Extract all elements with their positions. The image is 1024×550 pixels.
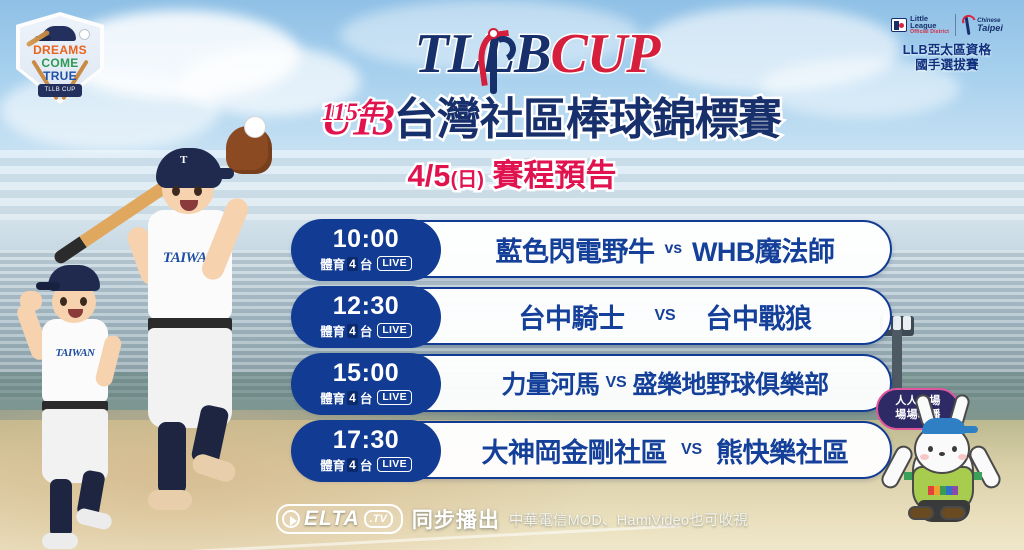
- mascot-eye: [952, 446, 957, 452]
- time-badge: 12:30 體育 4 台 LIVE: [291, 286, 441, 348]
- channel-suffix: 台: [360, 321, 373, 340]
- match-time: 15:00: [333, 361, 399, 386]
- channel-suffix: 台: [360, 254, 373, 273]
- poster-canvas: DREAMS COME TRUE TLLB CUP Little League …: [0, 0, 1024, 550]
- date-label: 4/5: [407, 158, 450, 193]
- live-badge: LIVE: [377, 256, 412, 271]
- channel-suffix: 台: [360, 455, 373, 474]
- simulcast-label: 同步播出: [412, 504, 500, 534]
- player-shoe: [42, 533, 78, 549]
- match-time: 12:30: [333, 294, 399, 319]
- home-team: 藍色閃電野牛: [496, 230, 655, 269]
- year-label: 115年: [322, 92, 383, 128]
- player-eye: [80, 297, 87, 306]
- mascot-eye: [928, 446, 933, 452]
- vs-label: VS: [681, 441, 702, 459]
- away-team: WHB魔法師: [692, 230, 834, 269]
- time-badge: 17:30 體育 4 台 LIVE: [291, 420, 441, 482]
- mascot-nose: [939, 452, 945, 456]
- channel-prefix: 體育: [320, 388, 345, 407]
- match-time: 17:30: [333, 428, 399, 453]
- match-teams: 力量河馬 VS 盛樂地野球俱樂部: [454, 365, 890, 401]
- away-team: 盛樂地野球俱樂部: [632, 365, 828, 401]
- channel-info: 體育 4 台 LIVE: [320, 254, 412, 273]
- jersey-text: TAIWAN: [46, 347, 104, 359]
- player-cap: [48, 265, 100, 291]
- cup-logo-row: TLLBCUP: [0, 26, 1024, 96]
- channel-number: 4: [347, 257, 358, 271]
- tllb-emblem-icon: [468, 30, 520, 94]
- player-shoe: [190, 452, 238, 485]
- day-of-week-label: (日): [451, 169, 484, 191]
- home-team: 力量河馬: [502, 365, 600, 401]
- player-jersey: [42, 319, 108, 403]
- mascot-cheek: [920, 454, 929, 460]
- channel-prefix: 體育: [320, 254, 345, 273]
- player-large: TAIWAN T: [118, 130, 278, 550]
- mascot-cap: [922, 418, 966, 434]
- vs-label: VS: [655, 307, 676, 325]
- broadcast-note: 中華電信MOD、HamiVideo也可收視: [509, 509, 748, 530]
- schedule-row[interactable]: 17:30 體育 4 台 LIVE 大神岡金剛社區 VS 熊快樂社區: [292, 421, 892, 479]
- live-badge: LIVE: [377, 390, 412, 405]
- channel-info: 體育 4 台 LIVE: [320, 321, 412, 340]
- elta-tv-suffix: .TV: [364, 510, 393, 528]
- live-badge: LIVE: [377, 457, 412, 472]
- cup-text: CUP: [550, 23, 659, 85]
- vs-label: vs: [665, 240, 682, 258]
- channel-prefix: 體育: [320, 455, 345, 474]
- channel-number: 4: [347, 391, 358, 405]
- schedule-row[interactable]: 10:00 體育 4 台 LIVE 藍色閃電野牛 vs WHB魔法師: [292, 220, 892, 278]
- title-row: 115年 U13台灣社區棒球錦標賽: [0, 98, 1024, 154]
- schedule-row[interactable]: 12:30 體育 4 台 LIVE 台中騎士 VS 台中戰狼: [292, 287, 892, 345]
- time-badge: 15:00 體育 4 台 LIVE: [291, 353, 441, 415]
- headline-block: TLLBCUP 115年 U13台灣社區棒球錦標賽 4/5(日) 賽程預告: [0, 26, 1024, 191]
- schedule-preview-label: 賽程預告: [493, 158, 617, 193]
- vs-label: VS: [606, 374, 627, 392]
- player-leg: [158, 422, 186, 494]
- channel-suffix: 台: [360, 388, 373, 407]
- live-badge: LIVE: [377, 323, 412, 338]
- match-teams: 大神岡金剛社區 VS 熊快樂社區: [454, 431, 890, 470]
- match-teams: 藍色閃電野牛 vs WHB魔法師: [454, 230, 890, 269]
- mascot-cheek: [958, 454, 967, 460]
- match-teams: 台中騎士 VS 台中戰狼: [454, 297, 890, 336]
- channel-number: 4: [347, 324, 358, 338]
- channel-info: 體育 4 台 LIVE: [320, 388, 412, 407]
- main-title: U13台灣社區棒球錦標賽: [0, 98, 1024, 142]
- channel-info: 體育 4 台 LIVE: [320, 455, 412, 474]
- elta-tv-logo: ELTA .TV: [276, 504, 403, 534]
- mascot-shirt-logo: [928, 486, 958, 495]
- schedule-list: 10:00 體育 4 台 LIVE 藍色閃電野牛 vs WHB魔法師 12:30…: [292, 220, 892, 488]
- player-eye: [60, 297, 67, 306]
- date-row: 4/5(日) 賽程預告: [0, 160, 1024, 191]
- home-team: 台中騎士: [519, 297, 625, 336]
- player-fist: [20, 291, 42, 311]
- mascot-figure: 人人上場 場場轉播: [868, 388, 1018, 548]
- mascot-arm: [878, 442, 915, 491]
- elta-wordmark: ELTA: [304, 507, 360, 531]
- channel-prefix: 體育: [320, 321, 345, 340]
- channel-number: 4: [347, 458, 358, 472]
- title-chinese: 台灣社區棒球錦標賽: [394, 95, 781, 144]
- mascot-foot: [940, 506, 966, 520]
- away-team: 台中戰狼: [705, 297, 811, 336]
- time-badge: 10:00 體育 4 台 LIVE: [291, 219, 441, 281]
- play-icon: [282, 510, 300, 528]
- mascot-foot: [908, 506, 934, 520]
- away-team: 熊快樂社區: [716, 431, 849, 470]
- schedule-row[interactable]: 15:00 體育 4 台 LIVE 力量河馬 VS 盛樂地野球俱樂部: [292, 354, 892, 412]
- match-time: 10:00: [333, 227, 399, 252]
- home-team: 大神岡金剛社區: [482, 431, 668, 470]
